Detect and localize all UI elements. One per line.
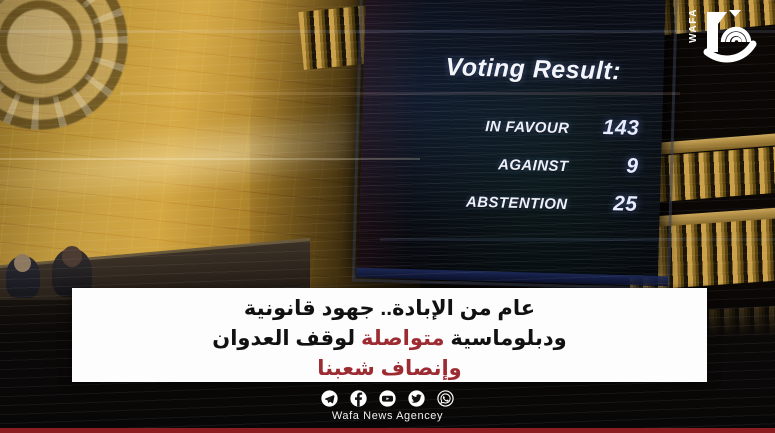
glitch-line	[0, 158, 420, 160]
vote-row-in-favour: IN FAVOUR 143	[400, 111, 646, 141]
caption-line-2-text-b: لوقف العدوان	[212, 327, 361, 350]
wafa-logo-text: WAFA	[689, 8, 699, 45]
seated-person-head	[14, 254, 31, 272]
caption-line-2-text-a: ودبلوماسية	[445, 327, 567, 350]
telegram-icon[interactable]	[321, 390, 338, 407]
caption-line-2: ودبلوماسية متواصلة لوقف العدوان	[212, 324, 566, 354]
caption-highlight-word: متواصلة	[361, 327, 445, 350]
social-links-row	[321, 390, 454, 407]
facebook-icon[interactable]	[350, 390, 367, 407]
bottom-accent-bar	[0, 428, 775, 433]
vote-row-abstention: ABSTENTION 25	[398, 187, 644, 217]
glitch-line	[0, 30, 775, 33]
agency-name: Wafa News Agencey	[332, 410, 443, 422]
vote-label-in-favour: IN FAVOUR	[406, 116, 577, 137]
vote-label-against: AGAINST	[405, 154, 576, 175]
wafa-waves-logo-icon	[701, 8, 763, 66]
news-graphic-frame: Voting Result: IN FAVOUR 143 AGAINST 9 A…	[0, 0, 775, 433]
twitter-icon[interactable]	[408, 390, 425, 407]
vote-value-against: 9	[576, 153, 639, 179]
voting-result-panel: Voting Result: IN FAVOUR 143 AGAINST 9 A…	[398, 52, 647, 231]
vote-value-abstention: 25	[575, 191, 638, 217]
vote-value-in-favour: 143	[577, 115, 640, 141]
vote-label-abstention: ABSTENTION	[404, 192, 575, 213]
voting-result-title: Voting Result:	[401, 52, 647, 87]
footer: Wafa News Agencey	[0, 383, 775, 428]
vote-row-against: AGAINST 9	[399, 149, 645, 179]
wafa-logo: WAFA	[689, 8, 763, 66]
glitch-line	[380, 238, 775, 241]
seated-person-head	[62, 246, 82, 267]
caption-line-3: وإنصاف شعبنا	[317, 354, 461, 384]
caption-line-1: عام من الإبادة.. جهود قانونية	[244, 294, 535, 324]
caption-card: عام من الإبادة.. جهود قانونية ودبلوماسية…	[72, 288, 707, 382]
youtube-icon[interactable]	[379, 390, 396, 407]
whatsapp-icon[interactable]	[437, 390, 454, 407]
